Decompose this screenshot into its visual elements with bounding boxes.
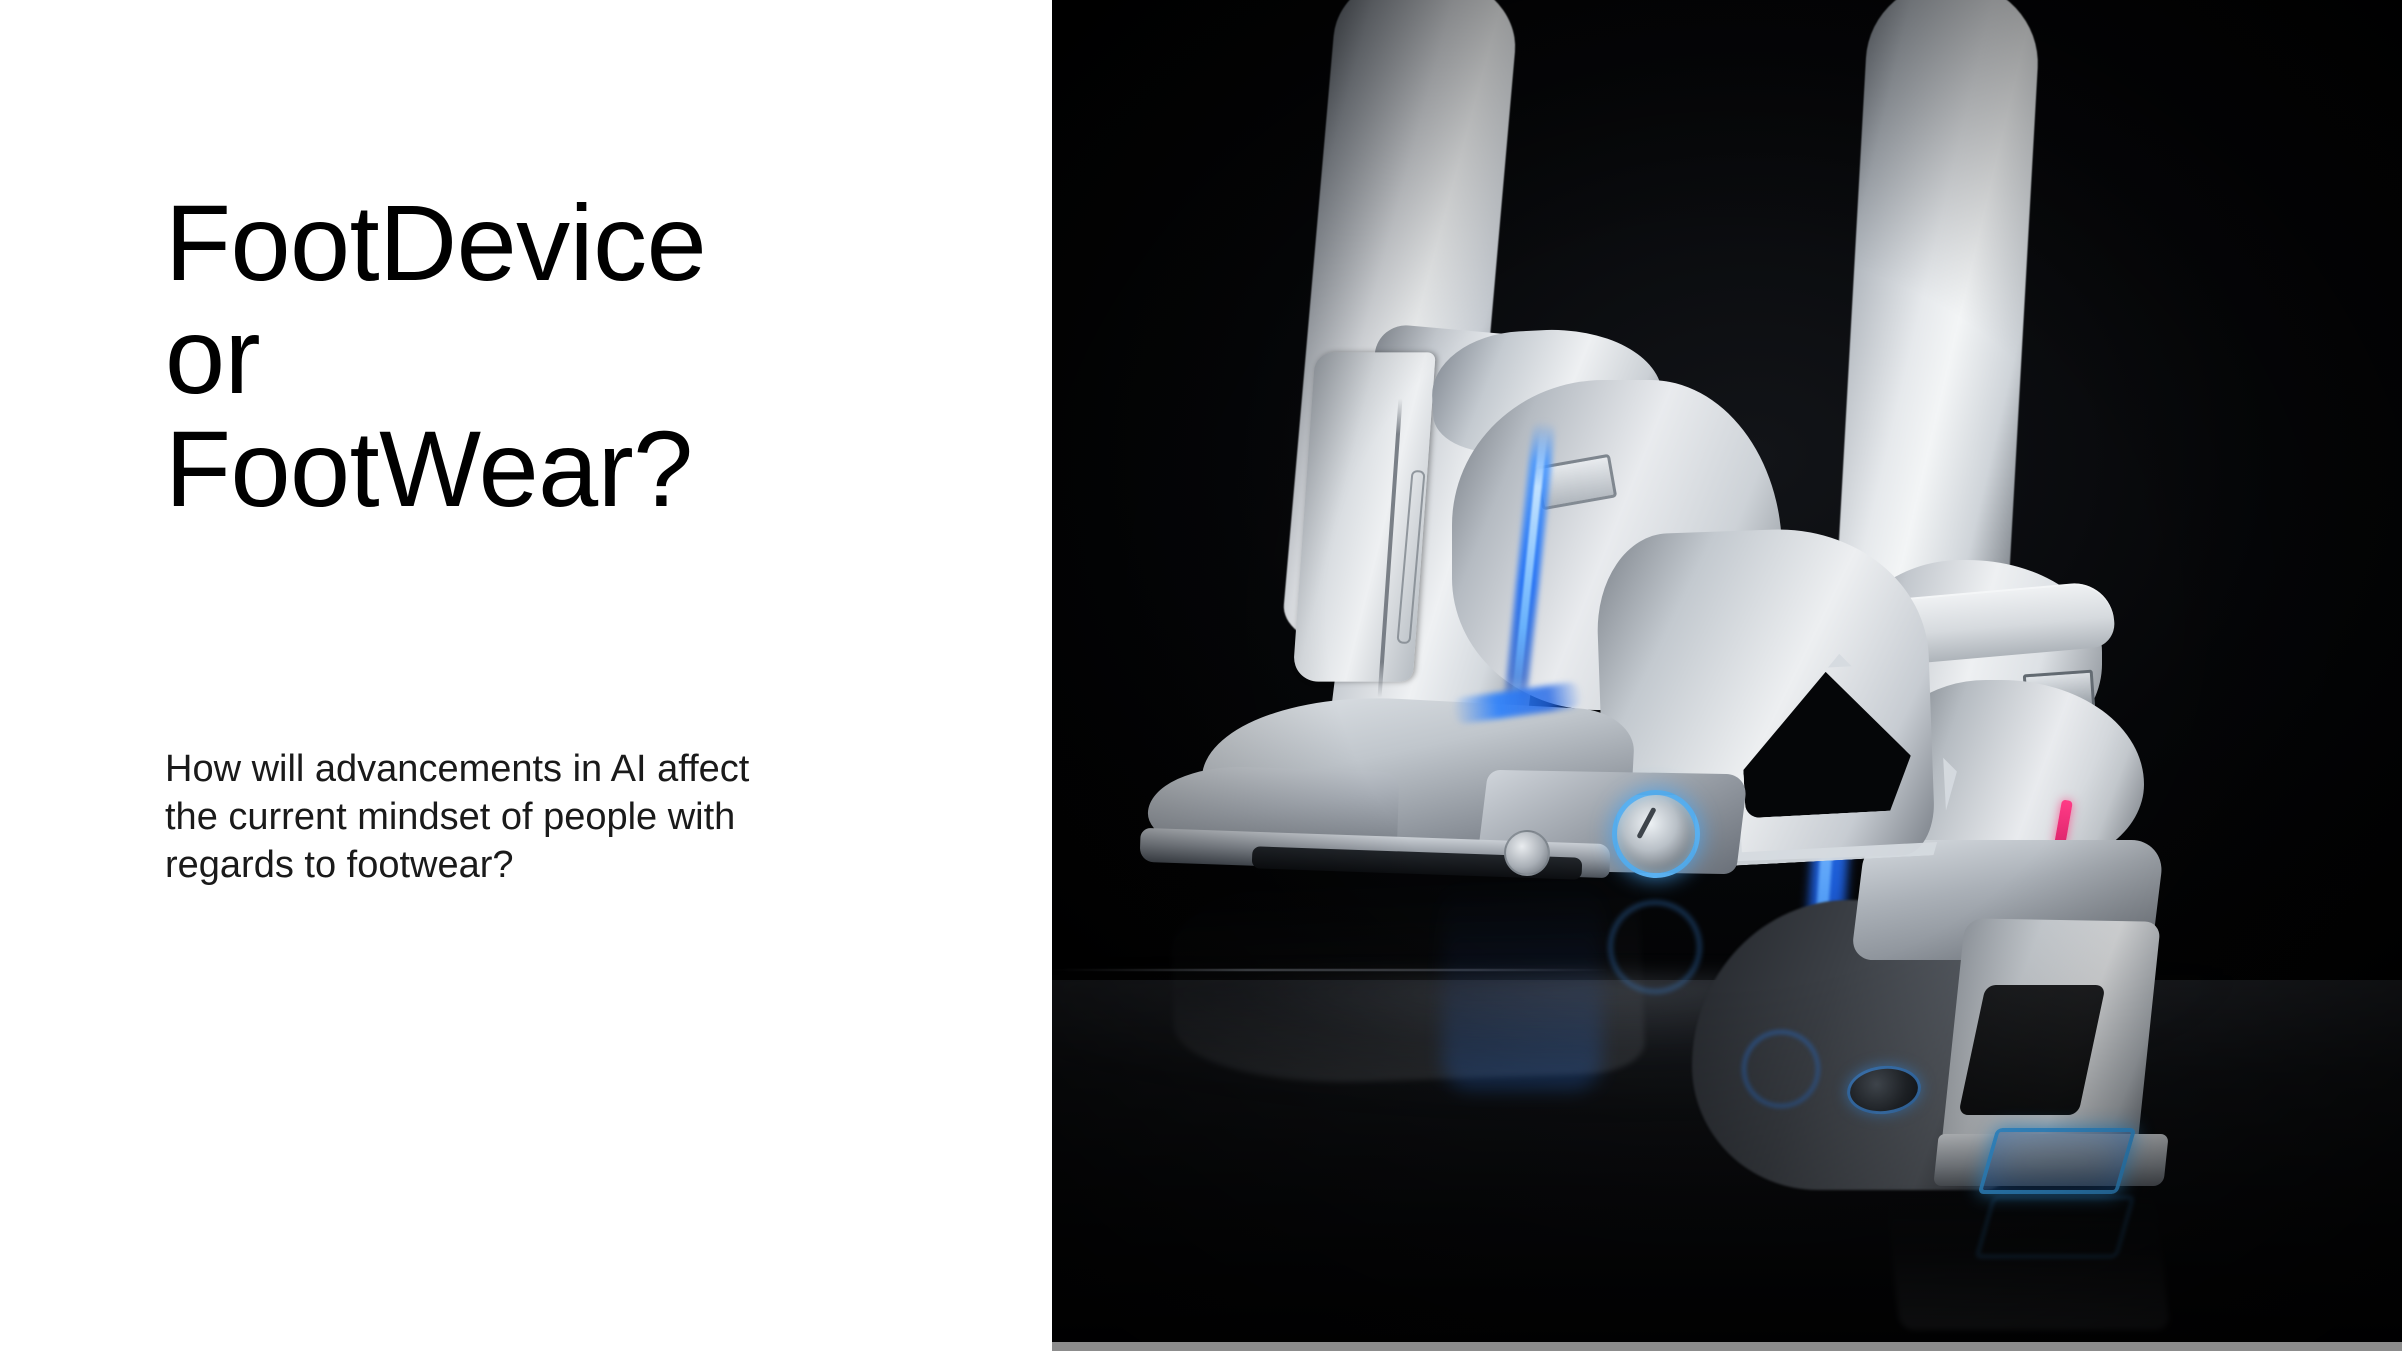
title-line-3: FootWear? <box>165 412 1025 525</box>
text-panel: FootDevice or FootWear? How will advance… <box>0 0 1052 1351</box>
rear-boot-reflection <box>1884 1180 2170 1330</box>
title-line-1: FootDevice <box>165 186 1025 299</box>
subtitle-line-2: the current mindset of people with <box>165 793 925 841</box>
rear-glow-ring-reflection <box>1742 1030 1820 1108</box>
title-line-2: or <box>165 299 1025 412</box>
blue-glow-reflection <box>1442 880 1602 1090</box>
gauge-dial <box>1612 790 1700 878</box>
slide: FootDevice or FootWear? How will advance… <box>0 0 2402 1351</box>
subtitle-line-1: How will advancements in AI affect <box>165 745 925 793</box>
subtitle: How will advancements in AI affect the c… <box>165 745 925 889</box>
page-title: FootDevice or FootWear? <box>165 186 1025 525</box>
photo-stage <box>1052 0 2402 1342</box>
hero-image <box>1052 0 2402 1342</box>
bottom-strip <box>1052 1342 2402 1351</box>
subtitle-line-3: regards to footwear? <box>165 841 925 889</box>
mannequin-leg-rear <box>1834 0 2043 644</box>
